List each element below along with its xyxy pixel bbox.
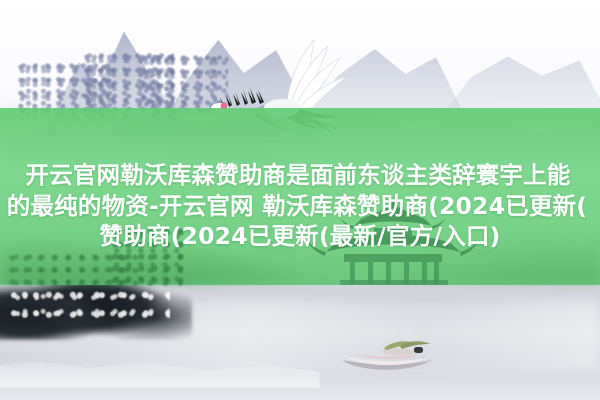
banner-image: 开云官网勒沃库森赞助商是面前东谈主类辞寰宇上能 的最纯的物资-开云官网 勒沃库森… (0, 0, 600, 400)
headline-line-2: 的最纯的物资-开云官网 勒沃库森赞助商(2024已更新( (0, 191, 600, 222)
rock-highlight (10, 288, 170, 322)
tree-silhouette-icon (8, 252, 128, 286)
small-boat-icon (336, 336, 446, 380)
headline-line-3: 赞助商(2024已更新(最新/官方/入口) (0, 221, 600, 252)
headline-line-1: 开云官网勒沃库森赞助商是面前东谈主类辞寰宇上能 (0, 160, 600, 191)
headline-text: 开云官网勒沃库森赞助商是面前东谈主类辞寰宇上能 的最纯的物资-开云官网 勒沃库森… (0, 160, 600, 252)
